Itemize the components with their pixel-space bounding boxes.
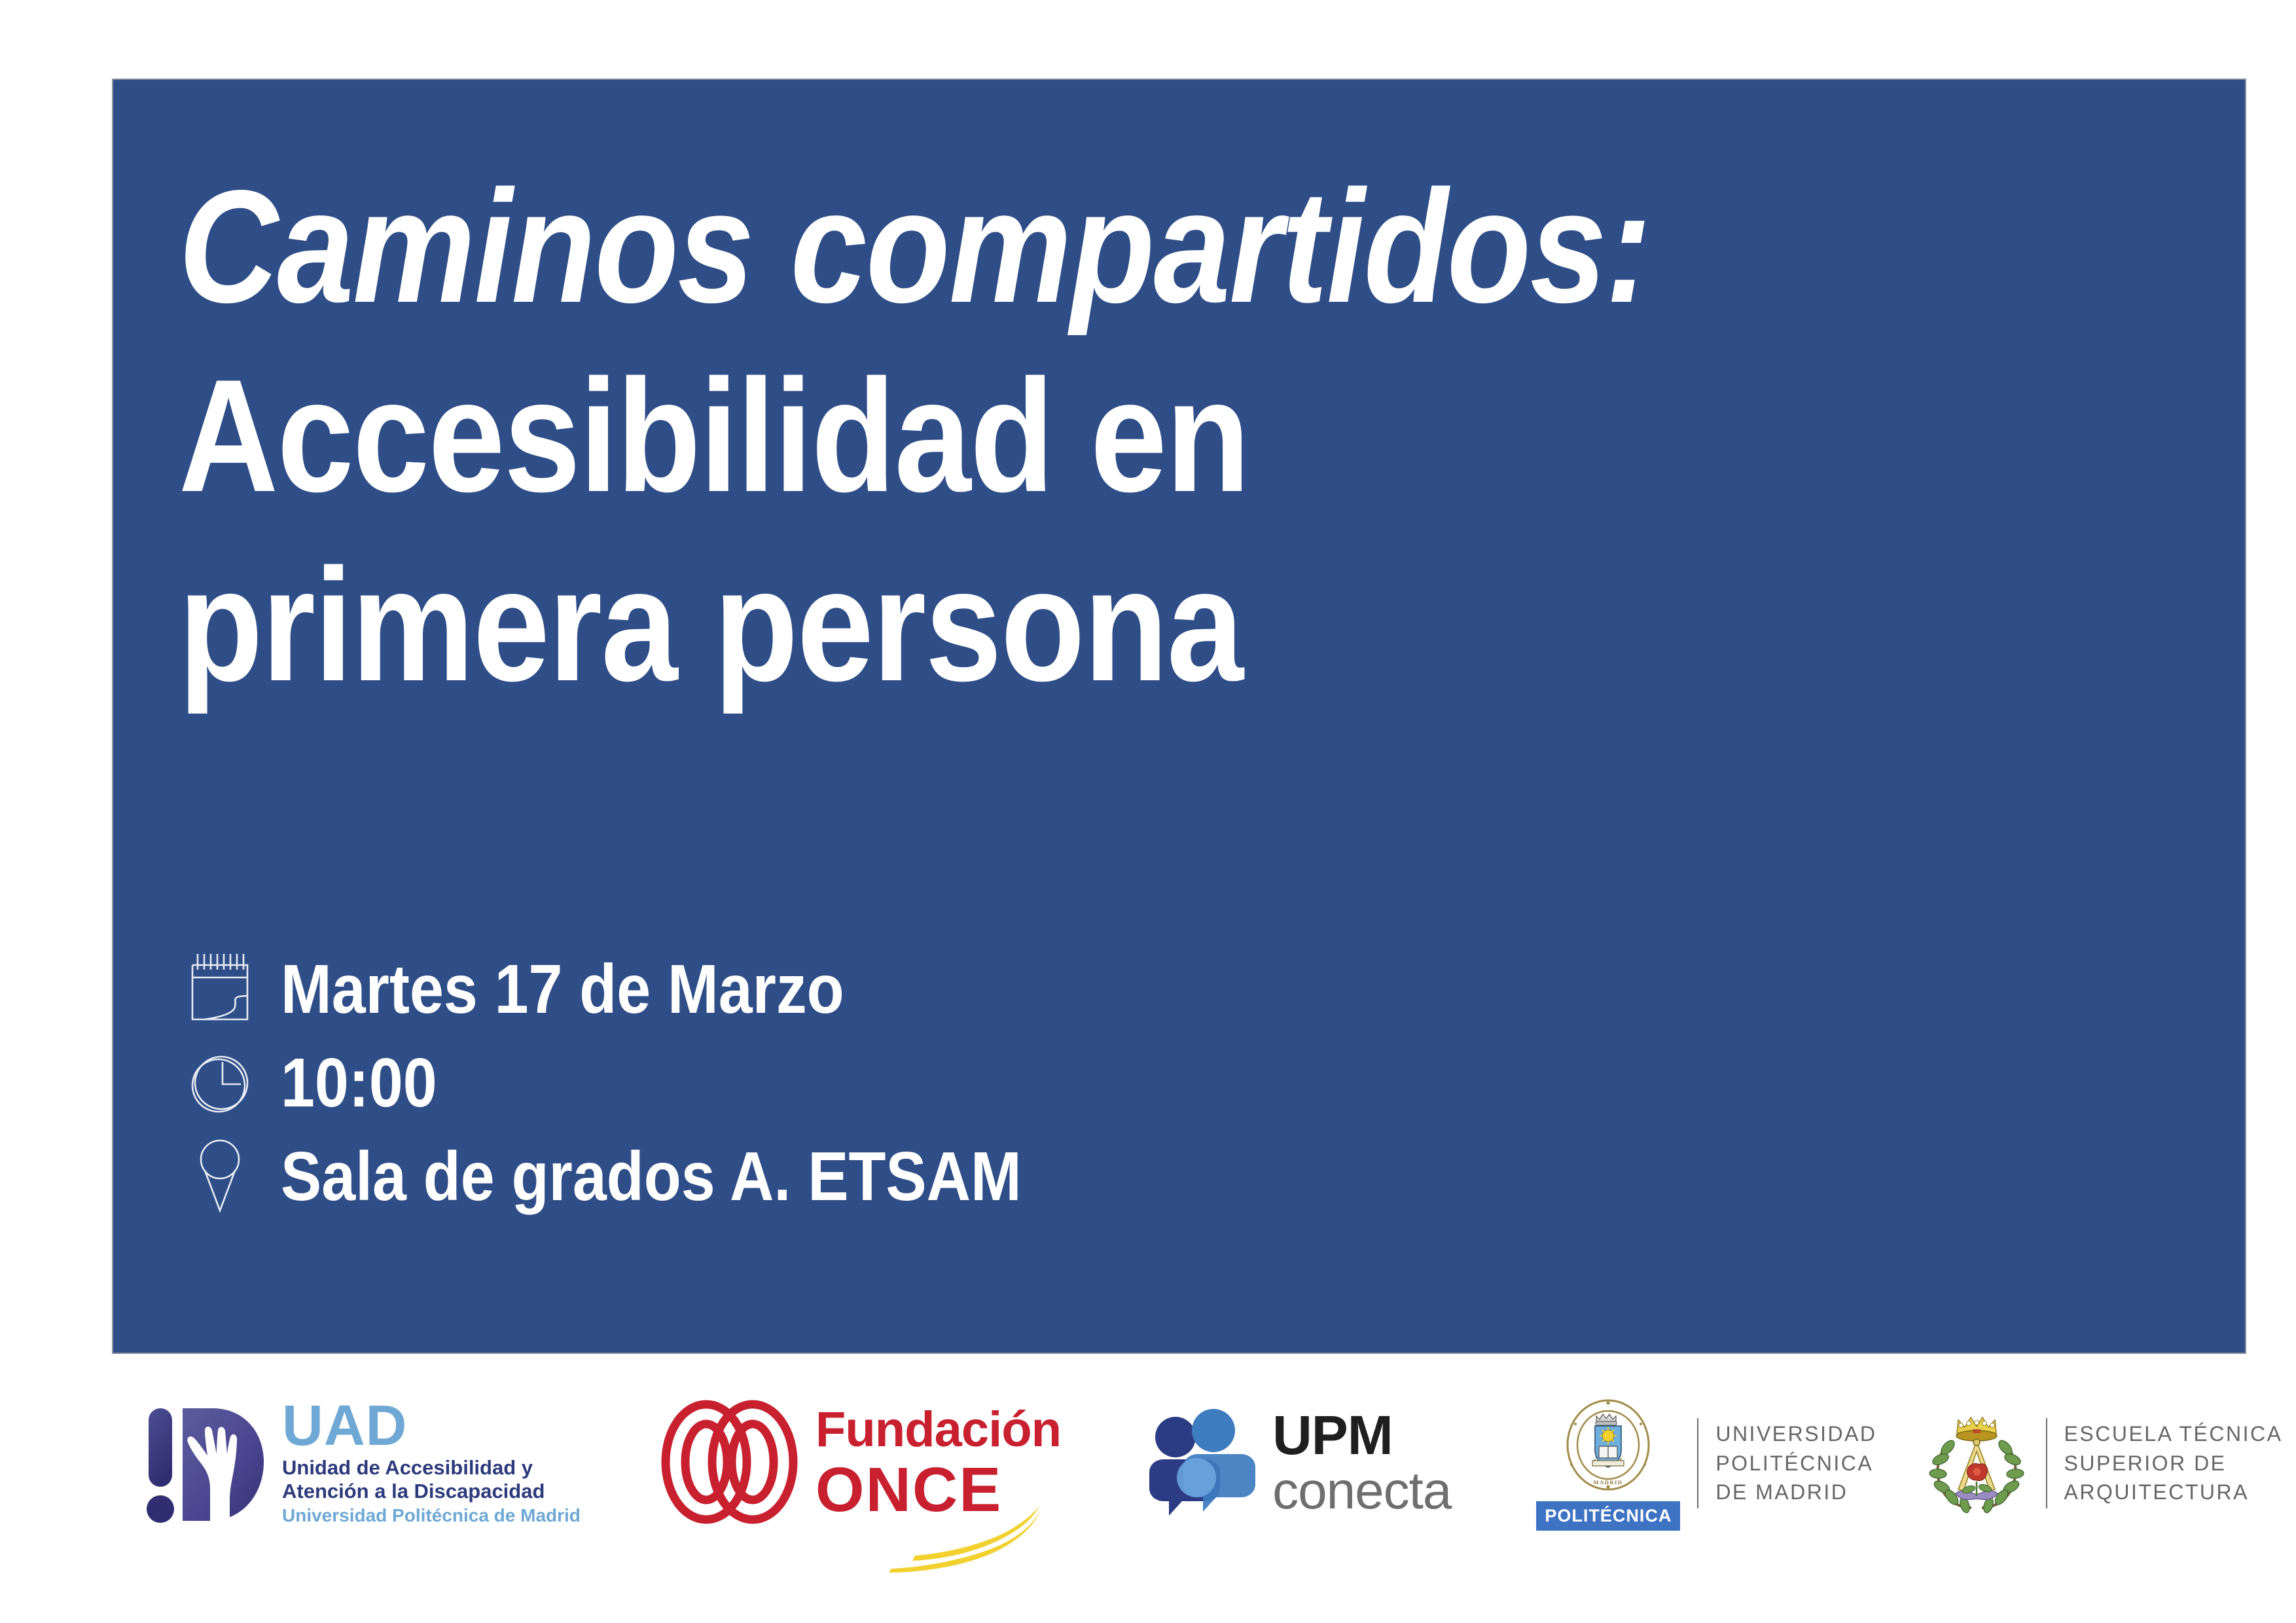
universidad-politecnica-de-madrid-logo: UNIVERSIDAD POLITÉCNICA MADRID: [1536, 1368, 1876, 1558]
uad-text-block: UAD Unidad de Accesibilidad y Atención a…: [282, 1399, 581, 1527]
etsam-caption: ESCUELA TÉCNICA SUPERIOR DE ARQUITECTURA: [2064, 1419, 2283, 1507]
etsam-caption-line-1: ESCUELA TÉCNICA: [2064, 1419, 2283, 1449]
detail-row-time: 10:00: [184, 1036, 1886, 1129]
svg-text:MADRID: MADRID: [1594, 1479, 1623, 1486]
escuela-tecnica-superior-de-arquitectura-logo: ESCUELA TÉCNICA SUPERIOR DE ARQUITECTURA: [1924, 1368, 2283, 1558]
etsam-caption-line-2: SUPERIOR DE: [2064, 1449, 2283, 1478]
clock-icon: [184, 1042, 256, 1123]
once-text-block: Fundación ONCE: [816, 1405, 1061, 1522]
upm-seal-and-banner: UNIVERSIDAD POLITÉCNICA MADRID: [1536, 1396, 1680, 1531]
once-fundacion-word: Fundación: [816, 1405, 1061, 1455]
detail-date-text: Martes 17 de Marzo: [281, 955, 844, 1024]
etsam-wreath-crown-compass-rose-icon: [1924, 1410, 2029, 1518]
location-pin-icon: [184, 1135, 256, 1217]
uad-acronym: UAD: [282, 1399, 581, 1453]
sponsor-logo-strip: UAD Unidad de Accesibilidad y Atención a…: [112, 1368, 2246, 1558]
uad-exclamation-hand-mark-icon: [145, 1396, 273, 1531]
detail-row-date: Martes 17 de Marzo: [184, 942, 1886, 1036]
upm-caption-line-3: DE MADRID: [1715, 1478, 1876, 1507]
upm-conecta-upm-word: UPM: [1272, 1410, 1451, 1462]
uad-logo: UAD Unidad de Accesibilidad y Atención a…: [145, 1368, 581, 1558]
uad-subtitle-line-3: Universidad Politécnica de Madrid: [282, 1504, 581, 1527]
uad-subtitle-line-2: Atención a la Discapacidad: [282, 1480, 581, 1504]
detail-place-text: Sala de grados A. ETSAM: [281, 1142, 1022, 1211]
upm-conecta-text-block: UPM conecta: [1272, 1410, 1451, 1517]
upm-conecta-conecta-word: conecta: [1272, 1465, 1451, 1517]
uad-subtitle-line-1: Unidad de Accesibilidad y: [282, 1456, 581, 1480]
upm-caption-line-2: POLITÉCNICA: [1715, 1449, 1876, 1478]
title-line-1: Caminos compartidos:: [179, 152, 1912, 341]
poster-blue-panel: Caminos compartidos: Accesibilidad en pr…: [112, 79, 2246, 1354]
once-yellow-swoosh-icon: [886, 1501, 1069, 1576]
title-line-2: Accesibilidad en: [179, 341, 1912, 530]
upm-seal-icon: UNIVERSIDAD POLITÉCNICA MADRID: [1558, 1396, 1658, 1499]
upm-conecta-people-bubbles-icon: [1143, 1407, 1259, 1520]
once-interlocking-rings-icon: [659, 1396, 800, 1531]
upm-logo-divider: [1697, 1418, 1698, 1508]
upm-politecnica-banner: POLITÉCNICA: [1536, 1501, 1680, 1531]
upm-caption: UNIVERSIDAD POLITÉCNICA DE MADRID: [1715, 1419, 1876, 1507]
upm-caption-line-1: UNIVERSIDAD: [1715, 1419, 1876, 1449]
etsam-caption-line-3: ARQUITECTURA: [2064, 1478, 2283, 1507]
page-title: Caminos compartidos: Accesibilidad en pr…: [179, 152, 2195, 720]
fundacion-once-logo: Fundación ONCE: [659, 1368, 1061, 1558]
etsam-logo-divider: [2046, 1418, 2047, 1508]
upm-conecta-logo: UPM conecta: [1143, 1368, 1451, 1558]
detail-time-text: 10:00: [281, 1048, 437, 1118]
detail-row-place: Sala de grados A. ETSAM: [184, 1129, 1886, 1223]
event-details: Martes 17 de Marzo 10:00: [184, 942, 1886, 1223]
title-line-3: primera persona: [179, 530, 1912, 720]
calendar-icon: [184, 948, 256, 1030]
